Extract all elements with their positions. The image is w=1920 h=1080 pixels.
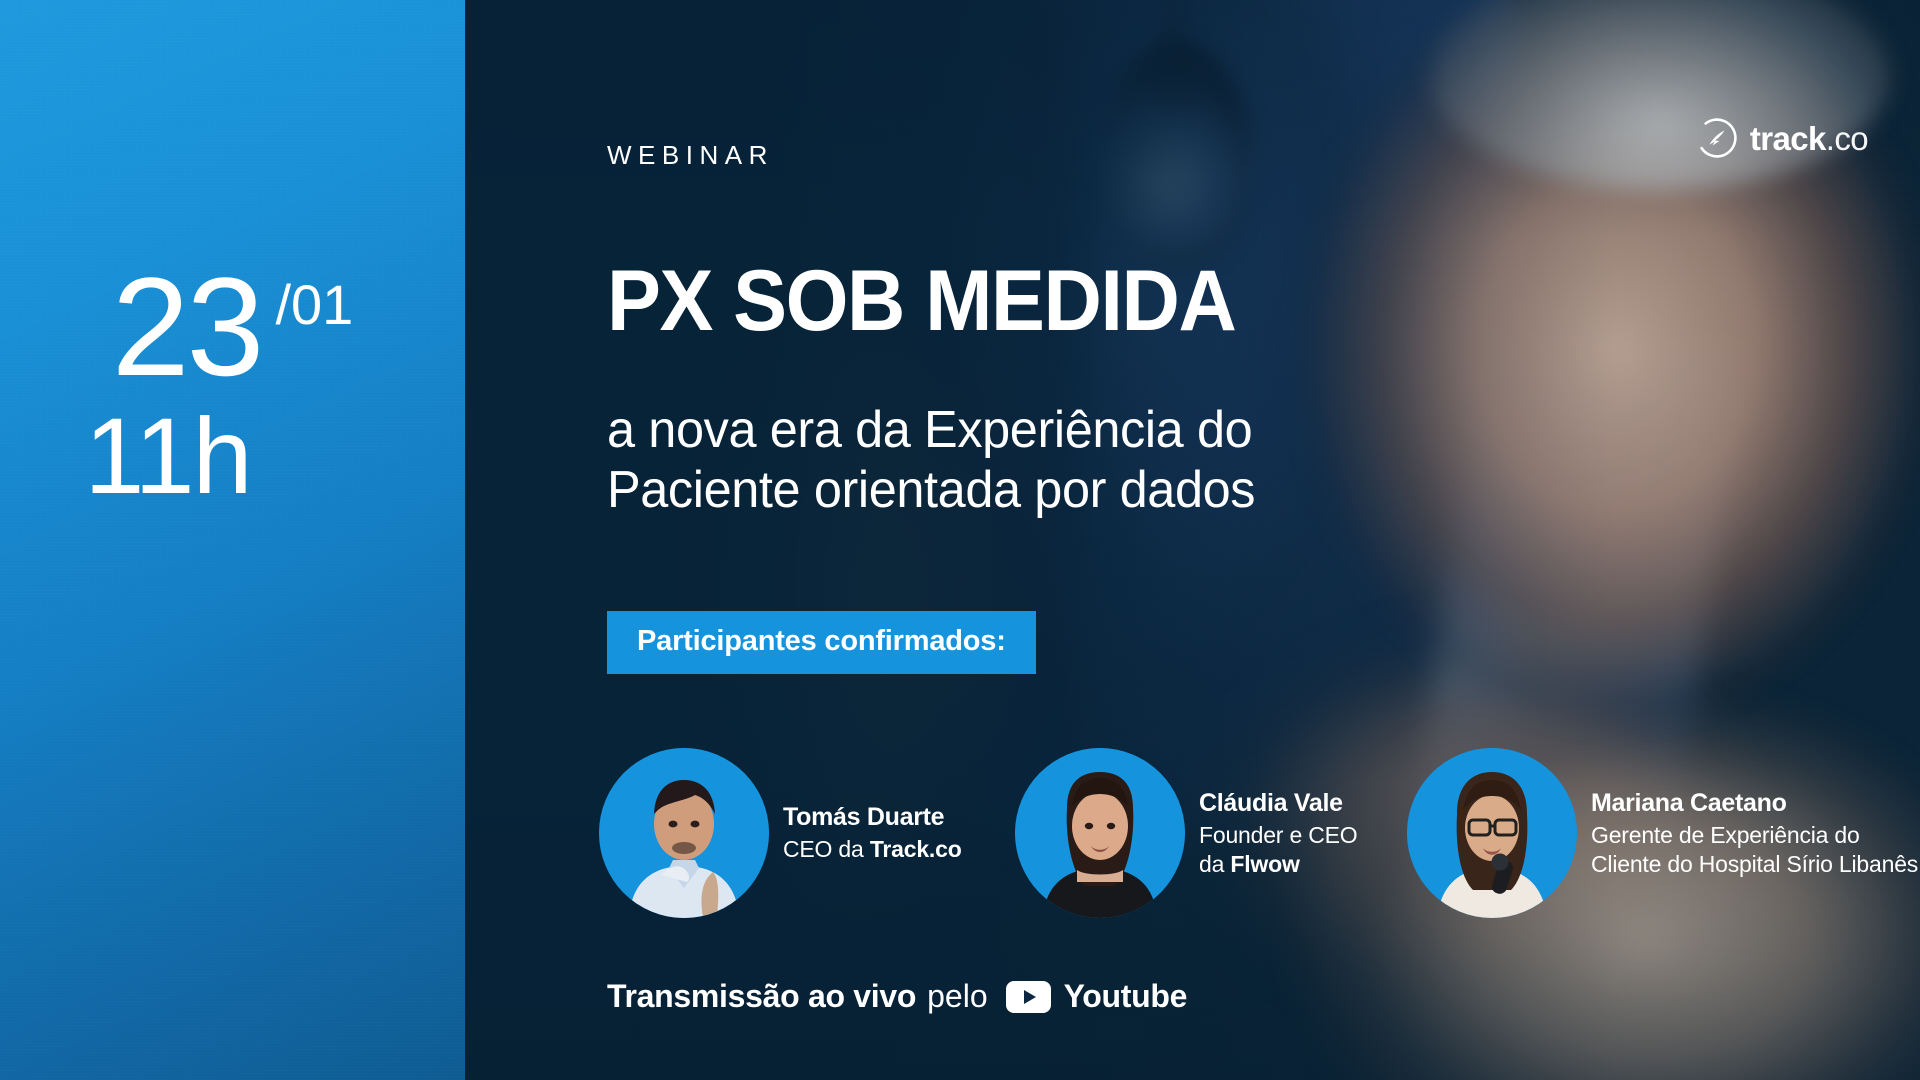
date-panel: 23 /01 11h <box>0 0 465 1080</box>
date-day: 23 <box>112 265 262 388</box>
speaker-role-line1: Gerente de Experiência do <box>1591 821 1918 850</box>
webinar-promo-banner: 23 /01 11h track.co WEBINAR PX SOB MEDID… <box>0 0 1920 1080</box>
broadcast-platform[interactable]: Youtube <box>1064 978 1188 1015</box>
date-month: /01 <box>275 277 353 333</box>
speaker-name: Mariana Caetano <box>1591 788 1918 819</box>
speakers-list: Tomás Duarte CEO da Track.co <box>599 748 1918 918</box>
speaker-role-company: Track.co <box>870 836 962 862</box>
speaker-info: Mariana Caetano Gerente de Experiência d… <box>1591 788 1918 878</box>
broadcast-strong-text: Transmissão ao vivo <box>607 978 916 1015</box>
youtube-play-icon[interactable] <box>1006 981 1051 1013</box>
speaker-role-line2: Cliente do Hospital Sírio Libanês <box>1591 850 1918 879</box>
speaker-role-line2: da Flwow <box>1199 850 1357 879</box>
avatar <box>599 748 769 918</box>
speaker-role-company: Flwow <box>1230 851 1299 877</box>
speaker-role: CEO da Track.co <box>783 835 962 864</box>
speaker-role-prefix: CEO da <box>783 836 870 862</box>
date-time: 11h <box>0 402 335 510</box>
avatar-claudia-vale-icon <box>1015 748 1185 918</box>
speaker-name: Tomás Duarte <box>783 802 962 833</box>
track-logo-icon <box>1697 118 1737 158</box>
eyebrow-label: WEBINAR <box>607 140 774 171</box>
avatar <box>1015 748 1185 918</box>
subtitle-line-2: Paciente orientada por dados <box>607 460 1509 520</box>
avatar <box>1407 748 1577 918</box>
speaker-info: Cláudia Vale Founder e CEO da Flwow <box>1199 788 1357 878</box>
speaker-item: Cláudia Vale Founder e CEO da Flwow <box>1015 748 1407 918</box>
logo-text-bold: track <box>1750 120 1826 157</box>
speaker-role-suffix: da <box>1199 851 1230 877</box>
brand-logo[interactable]: track.co <box>1697 118 1868 158</box>
speaker-role-prefix: Founder e CEO <box>1199 821 1357 850</box>
page-title: PX SOB MEDIDA <box>607 258 1235 344</box>
speaker-info: Tomás Duarte CEO da Track.co <box>783 802 962 864</box>
speaker-item: Tomás Duarte CEO da Track.co <box>599 748 1015 918</box>
speaker-role: Founder e CEO da Flwow <box>1199 821 1357 878</box>
logo-wordmark: track.co <box>1750 122 1868 155</box>
date-row: 23 /01 <box>0 265 465 388</box>
avatar-mariana-caetano-icon <box>1407 748 1577 918</box>
speaker-item: Mariana Caetano Gerente de Experiência d… <box>1407 748 1918 918</box>
subtitle-line-1: a nova era da Experiência do <box>607 400 1509 460</box>
date-block: 23 /01 11h <box>0 265 465 510</box>
participants-badge: Participantes confirmados: <box>607 611 1036 674</box>
logo-text-light: .co <box>1826 120 1868 157</box>
main-content: WEBINAR PX SOB MEDIDA a nova era da Expe… <box>607 0 1607 1080</box>
broadcast-footer: Transmissão ao vivo pelo Youtube <box>607 978 1187 1015</box>
subtitle: a nova era da Experiência do Paciente or… <box>607 400 1509 521</box>
broadcast-light-text: pelo <box>927 978 988 1015</box>
speaker-name: Cláudia Vale <box>1199 788 1357 819</box>
speaker-role: Gerente de Experiência do Cliente do Hos… <box>1591 821 1918 878</box>
panel-noise-texture <box>0 0 465 1080</box>
avatar-tomas-duarte-icon <box>599 748 769 918</box>
